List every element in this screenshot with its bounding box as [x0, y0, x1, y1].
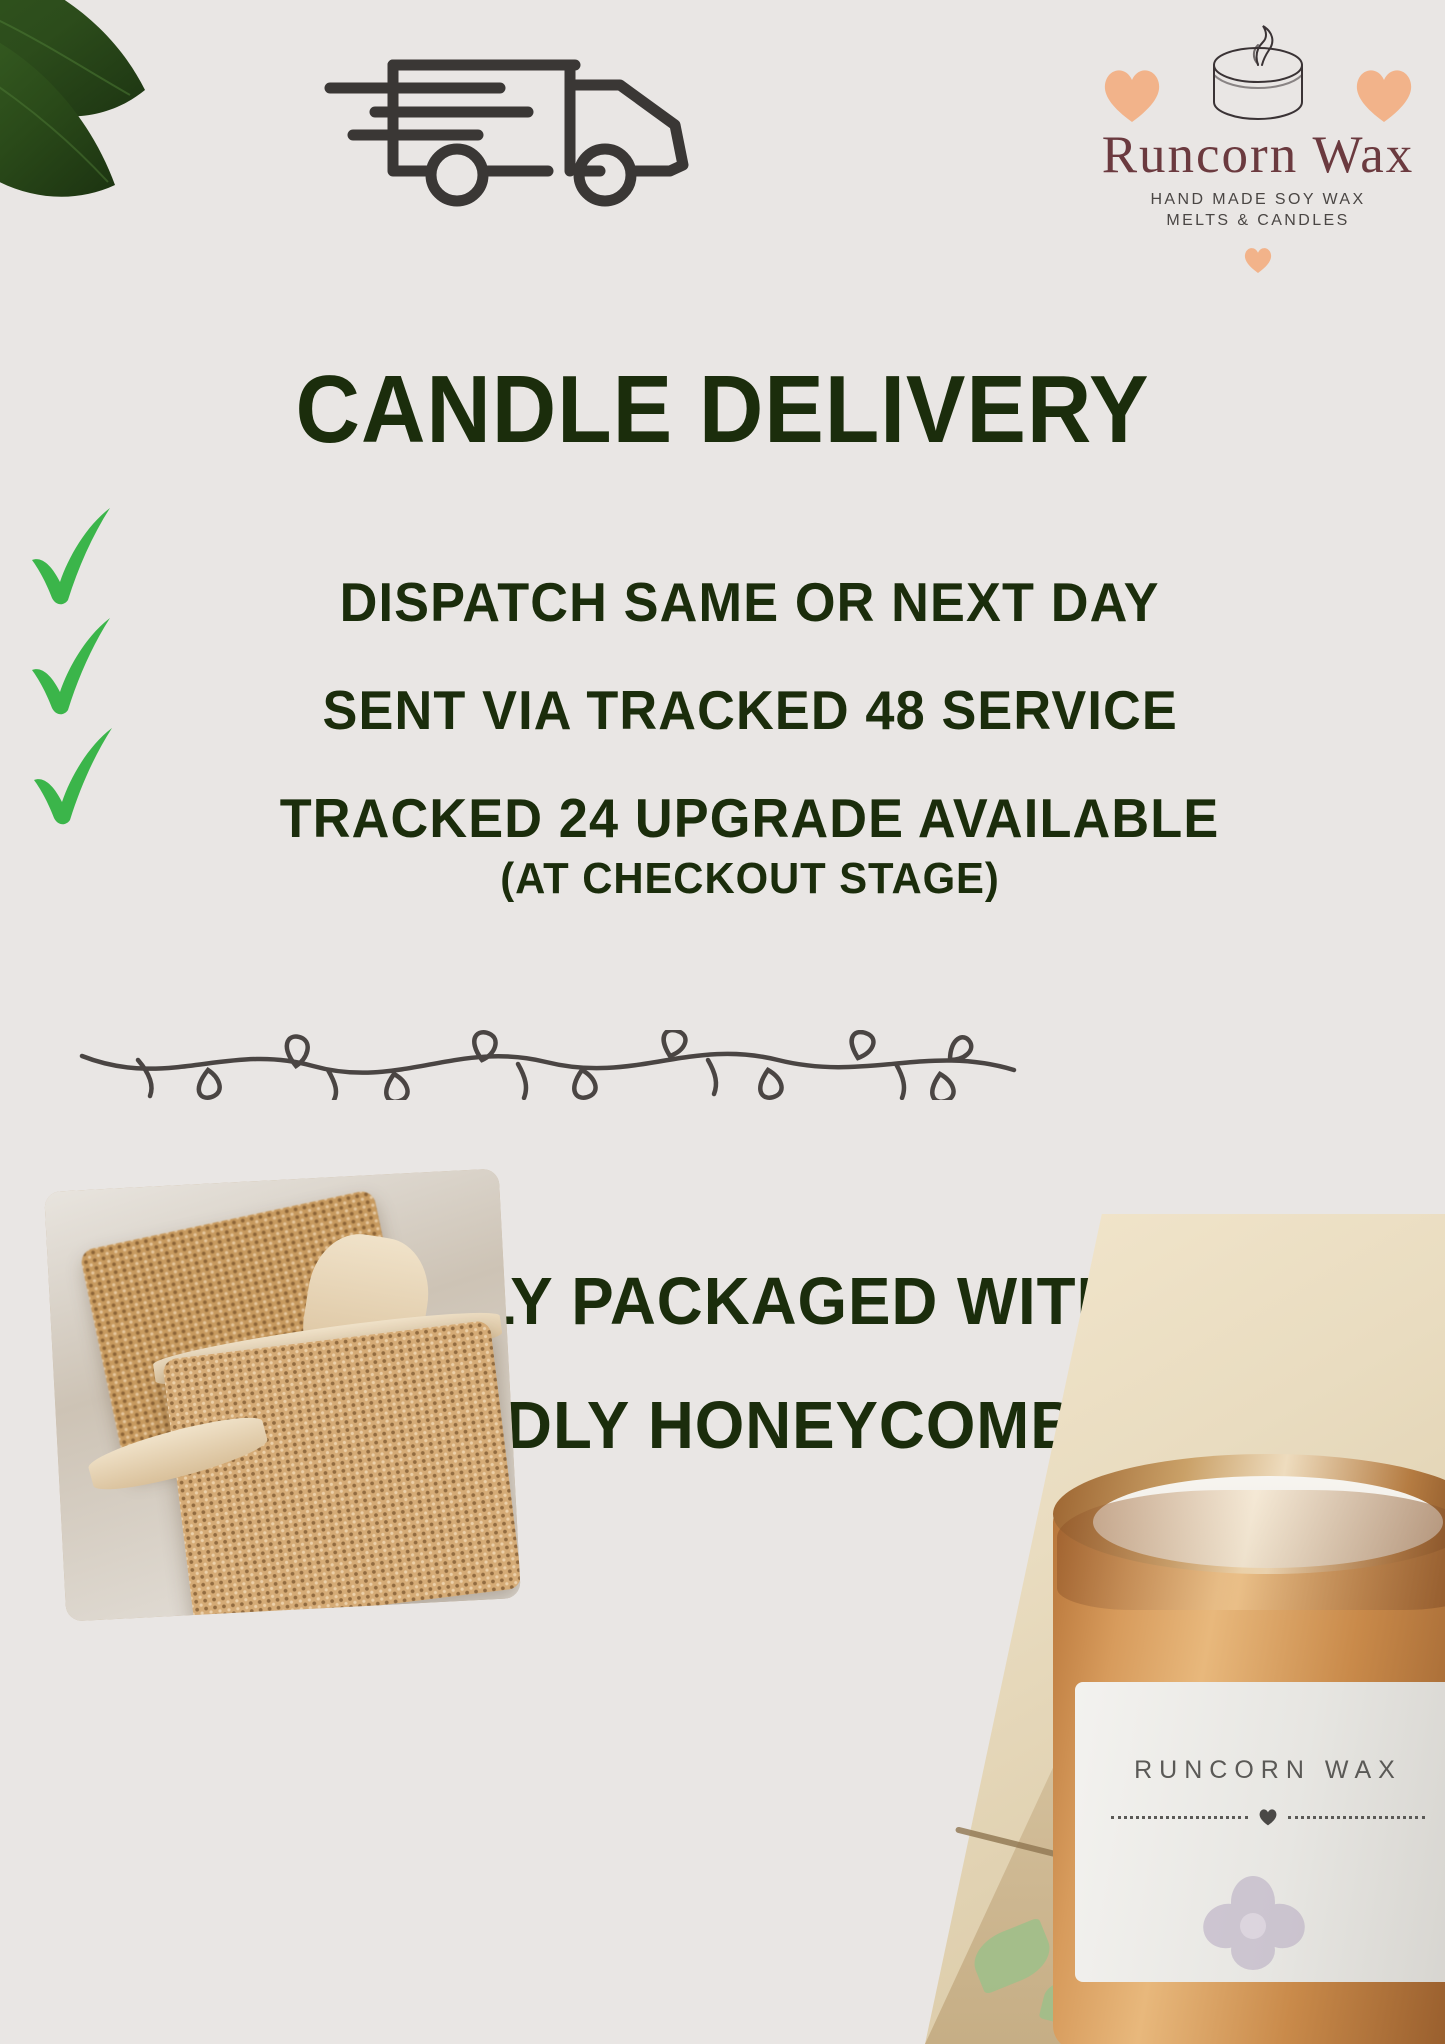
- candle-jar-photo: RUNCORN WAX: [925, 1214, 1445, 2044]
- heart-icon-bottom: [1243, 246, 1273, 274]
- label-divider: [1111, 1810, 1425, 1824]
- brand-logo: Runcorn Wax HAND MADE SOY WAX MELTS & CA…: [1093, 18, 1423, 274]
- delivery-checklist: DISPATCH SAME OR NEXT DAY SENT VIA TRACK…: [0, 548, 1445, 904]
- green-check-icon: [26, 722, 134, 827]
- dotted-line-left: [1111, 1816, 1248, 1819]
- dotted-line-right: [1288, 1816, 1425, 1819]
- jar-label: RUNCORN WAX: [1075, 1682, 1445, 1982]
- checklist-note: (AT CHECKOUT STAGE): [90, 854, 1411, 904]
- delivery-info-poster: Runcorn Wax HAND MADE SOY WAX MELTS & CA…: [0, 0, 1445, 2044]
- list-item-label: TRACKED 24 UPGRADE AVAILABLE: [280, 786, 1220, 850]
- heart-icon-left: [1101, 66, 1163, 124]
- candle-jar: RUNCORN WAX: [1053, 1410, 1445, 2044]
- heart-icon-right: [1353, 66, 1415, 124]
- jar-neck: [1057, 1490, 1445, 1610]
- honeycomb-wrap-photo: [44, 1168, 521, 1621]
- logo-graphic: [1093, 18, 1423, 136]
- leaf-decoration-icon: [0, 0, 280, 300]
- list-item-label: SENT VIA TRACKED 48 SERVICE: [322, 678, 1177, 742]
- jar-label-text: RUNCORN WAX: [1075, 1756, 1445, 1785]
- list-item: DISPATCH SAME OR NEXT DAY: [0, 548, 1445, 656]
- green-check-icon: [24, 612, 132, 717]
- flower-illustration: [1193, 1868, 1313, 1978]
- page-title: CANDLE DELIVERY: [51, 355, 1395, 465]
- logo-tagline-line1: HAND MADE SOY WAX: [1093, 189, 1423, 211]
- honeycomb-sheet-front: [162, 1320, 521, 1622]
- vine-divider-icon: [78, 1030, 1018, 1100]
- logo-tagline-line2: MELTS & CANDLES: [1093, 210, 1423, 232]
- green-check-icon: [24, 502, 132, 607]
- heart-icon-label: [1258, 1808, 1278, 1826]
- delivery-truck-icon: [315, 25, 715, 210]
- list-item: SENT VIA TRACKED 48 SERVICE: [0, 656, 1445, 764]
- list-item-label: DISPATCH SAME OR NEXT DAY: [340, 570, 1160, 634]
- logo-wordmark: Runcorn Wax: [1093, 128, 1423, 184]
- candle-line-icon: [1195, 18, 1321, 136]
